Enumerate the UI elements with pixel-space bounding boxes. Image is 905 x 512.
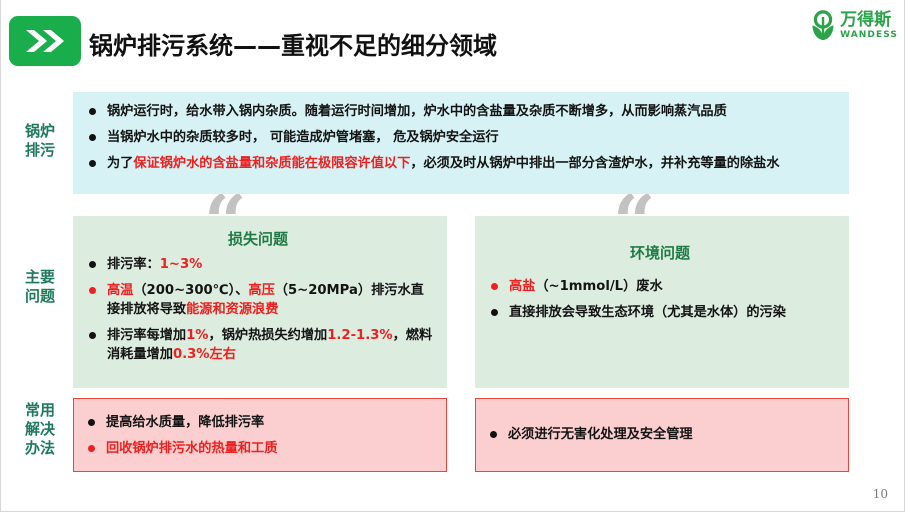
list-item: 直接排放会导致生态环境（尤其是水体）的污染 <box>485 303 835 322</box>
slide-canvas: 锅炉排污系统——重视不足的细分领域 万得斯 WANDESS “ “ 锅炉 排污 … <box>0 0 905 512</box>
bullet-dot-icon <box>89 108 96 115</box>
box-title: 损失问题 <box>83 228 433 249</box>
row-label-boiler-blowdown: 锅炉 排污 <box>11 122 69 160</box>
list-item: 提高给水质量，降低排污率 <box>82 413 432 432</box>
bullet-list: 必须进行无害化处理及安全管理 <box>484 425 834 444</box>
page-title: 锅炉排污系统——重视不足的细分领域 <box>89 26 497 61</box>
list-item: 高盐（~1mmol/L）废水 <box>485 277 835 296</box>
content-box-environment-problem: 环境问题 高盐（~1mmol/L）废水 直接排放会导致生态环境（尤其是水体）的污… <box>475 216 849 388</box>
row-label-common-solutions: 常用 解决 办法 <box>11 401 69 458</box>
logo-name-cn: 万得斯 <box>840 12 898 29</box>
bullet-dot-icon <box>89 160 96 167</box>
row-label-main-problems: 主要 问题 <box>11 268 69 306</box>
list-item: 回收锅炉排污水的热量和工质 <box>82 439 432 458</box>
wandess-seedling-logo-icon <box>810 10 836 42</box>
box-title: 环境问题 <box>485 242 835 263</box>
bullet-list: 锅炉运行时，给水带入锅内杂质。随着运行时间增加，炉水中的含盐量及杂质不断增多，从… <box>83 102 835 173</box>
list-item: 必须进行无害化处理及安全管理 <box>484 425 834 444</box>
list-item: 当锅炉水中的杂质较多时， 可能造成炉管堵塞， 危及锅炉安全运行 <box>83 128 835 147</box>
list-item: 排污率每增加1%，锅炉热损失约增加1.2-1.3%，燃料消耗量增加0.3%左右 <box>83 326 433 364</box>
page-number: 10 <box>873 487 888 501</box>
bullet-dot-icon <box>491 309 498 316</box>
bullet-dot-icon <box>89 134 96 141</box>
list-item: 锅炉运行时，给水带入锅内杂质。随着运行时间增加，炉水中的含盐量及杂质不断增多，从… <box>83 102 835 121</box>
slide-header: 锅炉排污系统——重视不足的细分领域 万得斯 WANDESS <box>1 0 905 80</box>
bullet-list: 排污率：1~3% 高温（200~300℃）、高压（5~20MPa）排污水直接排放… <box>83 255 433 364</box>
content-box-solutions-right: 必须进行无害化处理及安全管理 <box>475 398 849 472</box>
content-box-loss-problem: 损失问题 排污率：1~3% 高温（200~300℃）、高压（5~20MPa）排污… <box>73 216 447 388</box>
bullet-dot-icon <box>88 419 95 426</box>
content-box-boiler-blowdown: 锅炉运行时，给水带入锅内杂质。随着运行时间增加，炉水中的含盐量及杂质不断增多，从… <box>73 92 849 194</box>
list-item: 高温（200~300℃）、高压（5~20MPa）排污水直接排放将导致能源和资源浪… <box>83 281 433 319</box>
bullet-dot-icon <box>490 431 497 438</box>
double-chevron-right-icon <box>9 16 81 66</box>
bullet-dot-icon <box>89 287 96 294</box>
logo-name-en: WANDESS <box>840 31 898 40</box>
list-item: 为了保证锅炉水的含盐量和杂质能在极限容许值以下，必须及时从锅炉中排出一部分含渣炉… <box>83 154 835 173</box>
list-item: 排污率：1~3% <box>83 255 433 274</box>
bullet-list: 提高给水质量，降低排污率 回收锅炉排污水的热量和工质 <box>82 413 432 458</box>
bullet-dot-icon <box>89 261 96 268</box>
brand-logo: 万得斯 WANDESS <box>810 10 898 42</box>
bullet-list: 高盐（~1mmol/L）废水 直接排放会导致生态环境（尤其是水体）的污染 <box>485 277 835 322</box>
content-box-solutions-left: 提高给水质量，降低排污率 回收锅炉排污水的热量和工质 <box>73 398 447 472</box>
bullet-dot-icon <box>491 283 498 290</box>
bullet-dot-icon <box>88 445 95 452</box>
bullet-dot-icon <box>89 332 96 339</box>
